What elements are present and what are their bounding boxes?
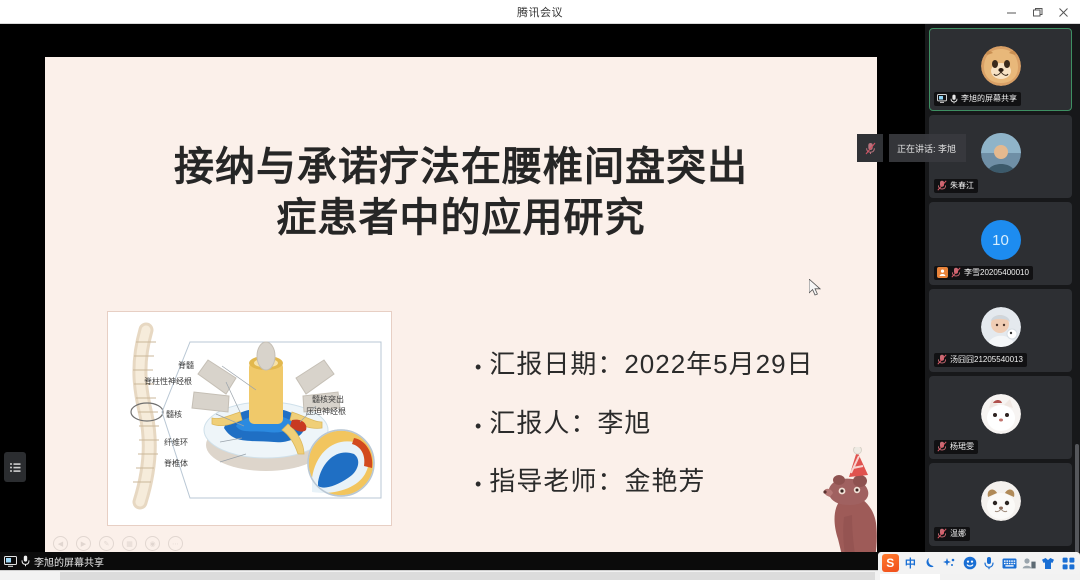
participant-tile-3[interactable]: 汤囧囧21205540013 xyxy=(929,289,1072,372)
rat-mascot-illustration xyxy=(820,447,877,557)
shared-screen-stage: 接纳与承诺疗法在腰椎间盘突出 症患者中的应用研究 xyxy=(0,24,925,552)
list-item: • 汇报人：李旭 xyxy=(475,409,875,438)
avatar xyxy=(981,307,1021,347)
lumbar-disc-figure: 脊髓 脊柱性神经根 髓核 纤维环 脊椎体 髓核突出 压迫神经根 xyxy=(107,311,392,526)
bullet-text: 汇报人：李旭 xyxy=(489,409,651,438)
list-item: • 汇报日期：2022年5月29日 xyxy=(475,350,875,379)
avatar: 10 xyxy=(981,220,1021,260)
bullet-marker: • xyxy=(475,358,482,376)
participant-tile-4[interactable]: 杨珺雯 xyxy=(929,376,1072,459)
participant-name: 温娜 xyxy=(950,528,966,539)
sparkle-icon[interactable] xyxy=(942,554,958,572)
avatar xyxy=(981,46,1021,86)
host-badge xyxy=(937,267,948,278)
nameplate: 朱春江 xyxy=(934,179,978,193)
sidebar-toggle-button[interactable] xyxy=(4,452,26,482)
list-item: • 指导老师：金艳芳 xyxy=(475,467,875,496)
muted-microphone-icon xyxy=(857,134,883,162)
avatar xyxy=(981,394,1021,434)
zoom-icon[interactable]: ◉ xyxy=(145,536,160,551)
toolbox-icon[interactable] xyxy=(1060,554,1076,572)
muted-microphone-icon xyxy=(937,180,947,191)
moon-icon[interactable] xyxy=(922,554,938,572)
avatar-text: 10 xyxy=(992,232,1009,249)
participant-rail[interactable]: 李旭的屏幕共享 朱春江 xyxy=(925,24,1080,552)
screen-share-icon xyxy=(937,94,947,103)
microphone-icon xyxy=(21,555,30,567)
bullet-text: 指导老师：金艳芳 xyxy=(489,467,705,496)
svg-text:髓核突出: 髓核突出 xyxy=(312,394,344,404)
svg-text:脊髓: 脊髓 xyxy=(178,360,194,370)
nameplate: 李雪20205400010 xyxy=(934,266,1033,280)
share-status-text: 李旭的屏幕共享 xyxy=(34,554,104,569)
window-title: 腾讯会议 xyxy=(517,4,563,20)
bullet-marker: • xyxy=(475,417,482,435)
tencent-meeting-window: 腾讯会议 xyxy=(0,0,1080,580)
participant-tile-0[interactable]: 李旭的屏幕共享 xyxy=(929,28,1072,111)
skin-icon[interactable] xyxy=(1041,554,1057,572)
avatar xyxy=(981,481,1021,521)
svg-text:纤维环: 纤维环 xyxy=(164,437,188,447)
speaking-tooltip-text: 正在讲话: 李旭 xyxy=(889,134,966,162)
bullet-text: 汇报日期：2022年5月29日 xyxy=(489,350,813,379)
minimize-button[interactable] xyxy=(998,0,1024,24)
screenshot-icon[interactable] xyxy=(1021,554,1037,572)
participant-name: 汤囧囧21205540013 xyxy=(950,354,1023,365)
slide-grid-icon[interactable]: ▦ xyxy=(122,536,137,551)
speaking-tooltip: 正在讲话: 李旭 xyxy=(857,134,966,162)
sogou-ime-toolbar[interactable]: S 中 xyxy=(878,552,1080,574)
microphone-icon[interactable] xyxy=(981,554,997,572)
more-options-icon[interactable]: ⋯ xyxy=(168,536,183,551)
muted-microphone-icon xyxy=(937,528,947,539)
nameplate: 温娜 xyxy=(934,527,970,541)
taskbar-window-group[interactable] xyxy=(60,572,875,580)
emoji-icon[interactable] xyxy=(962,554,978,572)
close-button[interactable] xyxy=(1050,0,1076,24)
prev-slide-icon[interactable]: ◀ xyxy=(53,536,68,551)
list-icon xyxy=(9,461,22,474)
muted-microphone-icon xyxy=(937,441,947,452)
restore-button[interactable] xyxy=(1024,0,1050,24)
rail-scrollbar[interactable] xyxy=(1075,444,1079,552)
spine-anatomy-illustration: 脊髓 脊柱性神经根 髓核 纤维环 脊椎体 髓核突出 压迫神经根 xyxy=(116,320,385,519)
slide-title: 接纳与承诺疗法在腰椎间盘突出 症患者中的应用研究 xyxy=(45,142,877,244)
svg-text:压迫神经根: 压迫神经根 xyxy=(306,406,346,416)
keyboard-icon[interactable] xyxy=(1001,554,1017,572)
avatar xyxy=(981,133,1021,173)
participant-name: 李雪20205400010 xyxy=(964,267,1029,278)
microphone-icon xyxy=(950,94,958,104)
window-controls xyxy=(998,0,1076,24)
mouse-cursor xyxy=(809,279,821,297)
powerpoint-slide: 接纳与承诺疗法在腰椎间盘突出 症患者中的应用研究 xyxy=(45,57,877,557)
language-mode-button[interactable]: 中 xyxy=(903,554,919,572)
muted-microphone-icon xyxy=(937,354,947,365)
participant-tile-2[interactable]: 10 李雪20205400010 xyxy=(929,202,1072,285)
participant-name: 杨珺雯 xyxy=(950,441,974,452)
next-slide-icon[interactable]: ▶ xyxy=(76,536,91,551)
muted-microphone-icon xyxy=(951,267,961,278)
participant-tile-5[interactable]: 温娜 xyxy=(929,463,1072,546)
monitor-icon xyxy=(4,556,17,567)
participant-name: 朱春江 xyxy=(950,180,974,191)
nameplate: 杨珺雯 xyxy=(934,440,978,454)
nameplate: 汤囧囧21205540013 xyxy=(934,353,1027,367)
svg-text:脊椎体: 脊椎体 xyxy=(164,458,188,468)
participant-name: 李旭的屏幕共享 xyxy=(961,93,1017,104)
title-bar: 腾讯会议 xyxy=(0,0,1080,24)
slide-bullet-list: • 汇报日期：2022年5月29日 • 汇报人：李旭 • 指导老师：金艳芳 xyxy=(475,350,875,526)
bullet-marker: • xyxy=(475,475,482,493)
svg-text:脊柱性神经根: 脊柱性神经根 xyxy=(144,376,192,386)
sogou-logo-icon[interactable]: S xyxy=(882,554,899,572)
svg-text:髓核: 髓核 xyxy=(166,409,182,419)
nameplate: 李旭的屏幕共享 xyxy=(934,92,1021,106)
slide-title-line-2: 症患者中的应用研究 xyxy=(45,193,877,244)
slide-title-line-1: 接纳与承诺疗法在腰椎间盘突出 xyxy=(174,145,748,189)
slideshow-controls[interactable]: ◀ ▶ ✎ ▦ ◉ ⋯ xyxy=(53,536,183,551)
pen-icon[interactable]: ✎ xyxy=(99,536,114,551)
